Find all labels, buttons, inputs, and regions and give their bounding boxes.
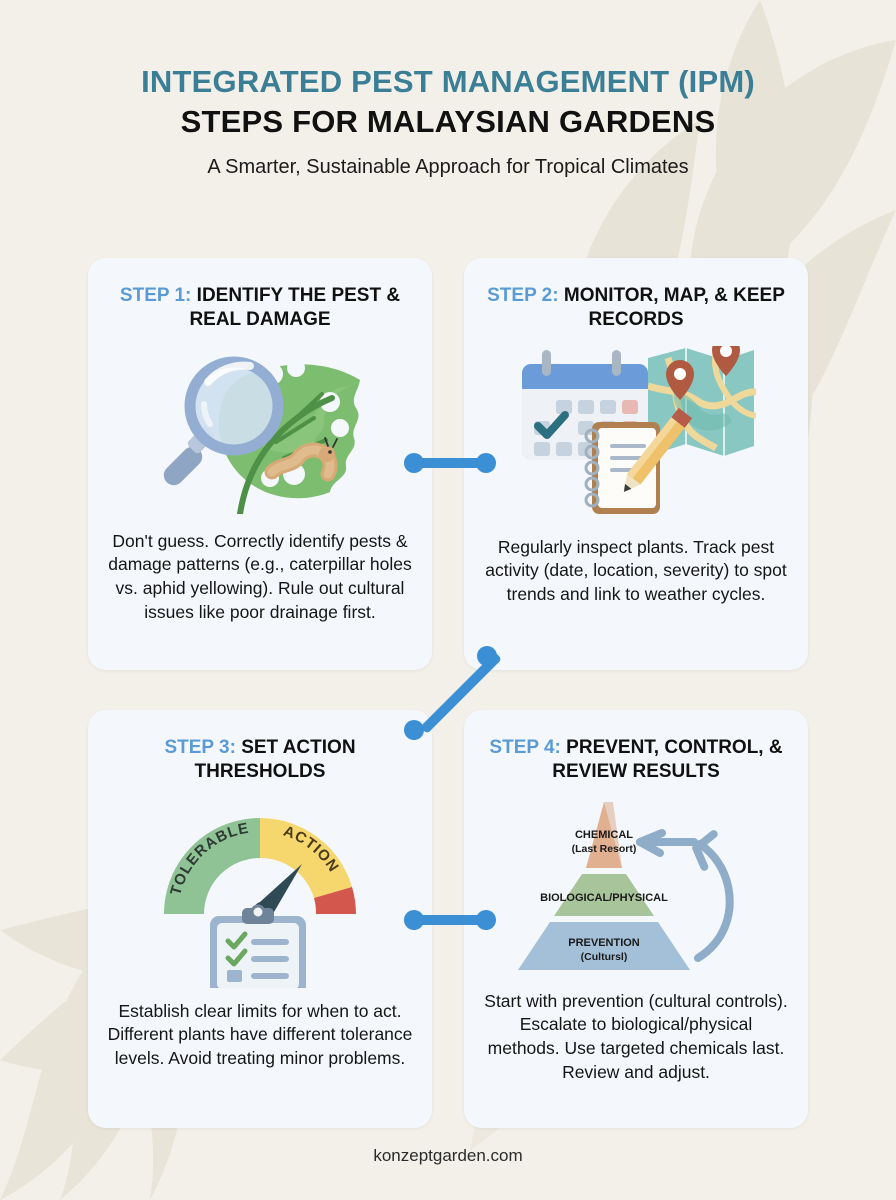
connector-dot-1-2-right: [476, 453, 496, 473]
connector-dot-3-4-left: [404, 910, 424, 930]
connector-step1-step2: [0, 0, 896, 1200]
connector-dot-1-2-left: [404, 453, 424, 473]
connector-dot-2-3-bottom: [404, 720, 424, 740]
connector-dot-2-3-top: [477, 646, 497, 666]
connector-dot-3-4-right: [476, 910, 496, 930]
